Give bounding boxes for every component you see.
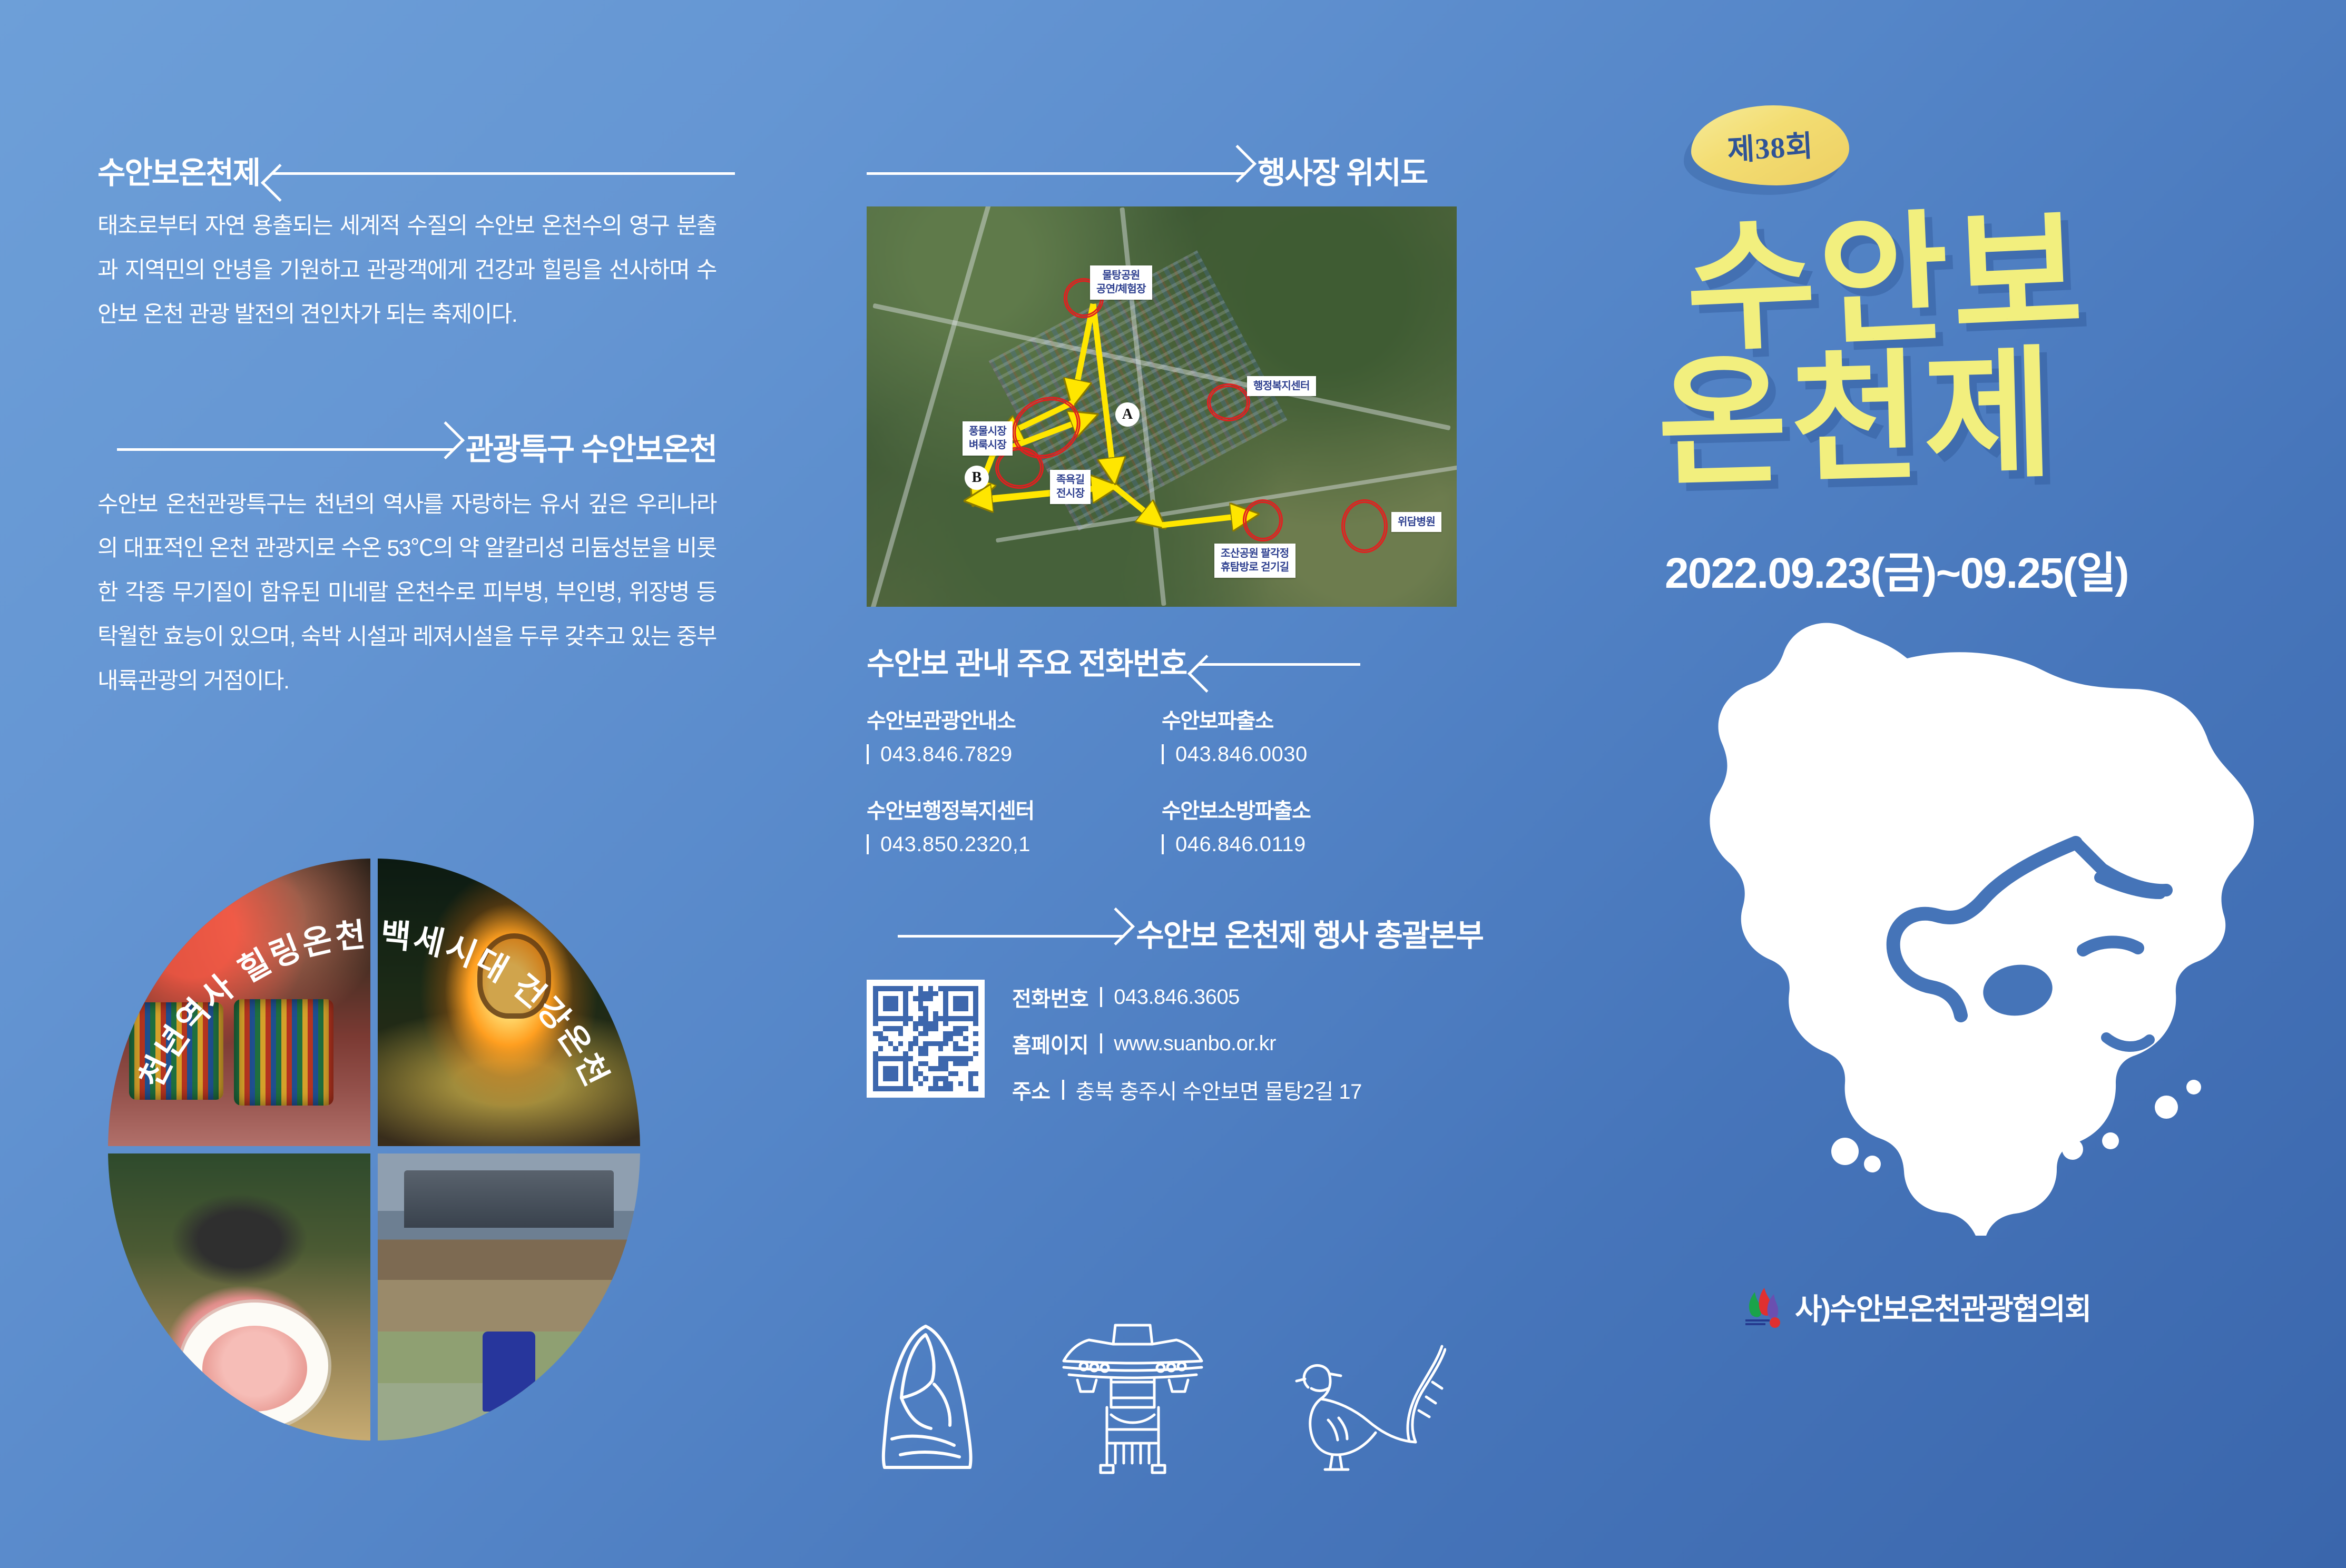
hq-value: 충북 충주시 수안보면 물탕2길 17: [1076, 1074, 1362, 1105]
divider: [867, 834, 869, 854]
right-column: 제38회 수안보 온천제 2022.09.23(금)~09.25(일): [1649, 105, 2297, 1330]
divider: [1062, 1080, 1064, 1100]
hq-contact-lines: 전화번호 043.846.3605 홈페이지 www.suanbo.or.kr …: [1012, 980, 1362, 1105]
phone-grid: 수안보관광안내소 043.846.7829 수안보파출소 043.846.003…: [867, 704, 1483, 856]
map-label-flea-market: 풍물시장벼룩시장: [963, 421, 1013, 456]
special-title: 관광특구 수안보온천: [466, 435, 716, 465]
hq-key: 주소: [1012, 1074, 1051, 1105]
map-label-widam-hospital: 위담병원: [1391, 512, 1441, 532]
venue-location-map[interactable]: 물탕공원공연/체험장 행정복지센터 풍물시장벼룩시장 족욕길전시장 조산공원 팔…: [867, 206, 1457, 607]
phone-name: 수안보파출소: [1162, 704, 1457, 734]
phones-title: 수안보 관내 주요 전화번호: [867, 649, 1186, 679]
divider: [1162, 834, 1164, 854]
map-heading-row: 행사장 위치도: [867, 158, 1483, 189]
phone-number[interactable]: 043.846.7829: [867, 743, 1162, 766]
map-ring-josan-park: [1245, 501, 1281, 539]
edition-badge: 제38회: [1691, 105, 1849, 185]
intro-heading-row: 수안보온천제: [97, 158, 716, 189]
hq-value[interactable]: 043.846.3605: [1114, 985, 1240, 1009]
divider: [1100, 987, 1102, 1007]
map-node-b: B: [965, 466, 989, 490]
map-label-josan-park: 조산공원 팔각정휴탐방로 걷기길: [1214, 544, 1295, 578]
phone-number[interactable]: 043.846.0030: [1162, 743, 1457, 766]
festival-date-range: 2022.09.23(금)~09.25(일): [1665, 538, 2297, 600]
divider: [867, 744, 869, 764]
hq-row-phone: 전화번호 043.846.3605: [1012, 982, 1362, 1012]
arrow-left-icon: [271, 172, 735, 175]
map-ring-widam-hospital: [1343, 501, 1386, 551]
photo-collage-circle: 천년역사 힐링온천 백세시대 건강온천: [108, 859, 640, 1441]
hq-title: 수안보 온천제 행사 총괄본부: [1136, 921, 1483, 951]
photo-pheasant-shabu-cuisine: [108, 1153, 370, 1441]
photo-traditional-drum-performance: [108, 859, 370, 1146]
edition-badge-label: 제38회: [1689, 101, 1851, 189]
intro-title: 수안보온천제: [97, 158, 260, 189]
phone-number[interactable]: 046.846.0119: [1162, 833, 1457, 856]
hq-heading-row: 수안보 온천제 행사 총괄본부: [867, 921, 1483, 951]
map-label-footbath-road: 족욕길전시장: [1050, 470, 1091, 504]
stone-buddha-icon: [867, 1317, 988, 1475]
festival-title-line2: 온천제: [1656, 341, 2299, 493]
pheasant-icon: [1278, 1317, 1446, 1475]
phone-directory: 수안보 관내 주요 전화번호 수안보관광안내소 043.846.7829 수안보…: [867, 649, 1483, 856]
left-column: 수안보온천제 태초로부터 자연 용출되는 세계적 수질의 수안보 온천수의 영구…: [97, 158, 716, 704]
intro-paragraph: 태초로부터 자연 용출되는 세계적 수질의 수안보 온천수의 영구 분출과 지역…: [97, 204, 716, 337]
pavilion-gate-icon: [1056, 1317, 1209, 1475]
hq-key: 전화번호: [1012, 982, 1088, 1012]
hq-body: 전화번호 043.846.3605 홈페이지 www.suanbo.or.kr …: [867, 980, 1483, 1105]
phone-name: 수안보관광안내소: [867, 704, 1162, 734]
phone-entry: 수안보행정복지센터 043.850.2320,1: [867, 794, 1162, 856]
photo-grid: [108, 859, 640, 1441]
map-title: 행사장 위치도: [1258, 158, 1427, 189]
arrow-right-icon: [898, 935, 1124, 938]
headquarters-block: 수안보 온천제 행사 총괄본부 전화번호 043.846.3605 홈페이지 w…: [867, 921, 1483, 1105]
map-label-welfare-center: 행정복지센터: [1247, 376, 1316, 396]
korea-peninsula-face-illustration: [1660, 622, 2265, 1248]
phone-number[interactable]: 043.850.2320,1: [867, 833, 1162, 856]
arrow-right-icon: [117, 448, 454, 451]
phone-entry: 수안보소방파출소 046.846.0119: [1162, 794, 1457, 856]
arrow-right-icon: [867, 172, 1246, 175]
divider: [1162, 744, 1164, 764]
association-name: 사)수안보온천관광협의회: [1795, 1286, 2090, 1328]
map-node-a: A: [1115, 402, 1140, 427]
festival-title-line1: 수안보: [1683, 196, 2300, 359]
hq-key: 홈페이지: [1012, 1028, 1088, 1059]
photo-night-light-fountain: [378, 859, 640, 1146]
qr-code[interactable]: [867, 980, 985, 1098]
map-label-multang-park: 물탕공원공연/체험장: [1090, 265, 1152, 300]
hq-value[interactable]: www.suanbo.or.kr: [1114, 1032, 1276, 1056]
arrow-left-icon: [1198, 663, 1360, 666]
photo-traditional-ritual-ceremony: [378, 1153, 640, 1441]
phone-name: 수안보행정복지센터: [867, 794, 1162, 824]
association-credit: 사)수안보온천관광협의회: [1741, 1285, 2297, 1330]
phone-name: 수안보소방파출소: [1162, 794, 1457, 824]
special-heading-row: 관광특구 수안보온천: [97, 435, 716, 465]
heritage-icon-row: [867, 1311, 1457, 1475]
special-zone-block: 관광특구 수안보온천 수안보 온천관광특구는 천년의 역사를 자랑하는 유서 깊…: [97, 435, 716, 704]
suanbo-association-logo: [1741, 1285, 1782, 1330]
hq-row-homepage: 홈페이지 www.suanbo.or.kr: [1012, 1028, 1362, 1059]
map-ring-welfare-center: [1209, 386, 1248, 419]
middle-column: 행사장 위치도: [867, 158, 1483, 1105]
hq-row-address: 주소 충북 충주시 수안보면 물탕2길 17: [1012, 1074, 1362, 1105]
phone-entry: 수안보관광안내소 043.846.7829: [867, 704, 1162, 766]
phone-entry: 수안보파출소 043.846.0030: [1162, 704, 1457, 766]
phones-heading-row: 수안보 관내 주요 전화번호: [867, 649, 1483, 679]
special-paragraph: 수안보 온천관광특구는 천년의 역사를 자랑하는 유서 깊은 우리나라의 대표적…: [97, 483, 716, 704]
divider: [1100, 1033, 1102, 1053]
